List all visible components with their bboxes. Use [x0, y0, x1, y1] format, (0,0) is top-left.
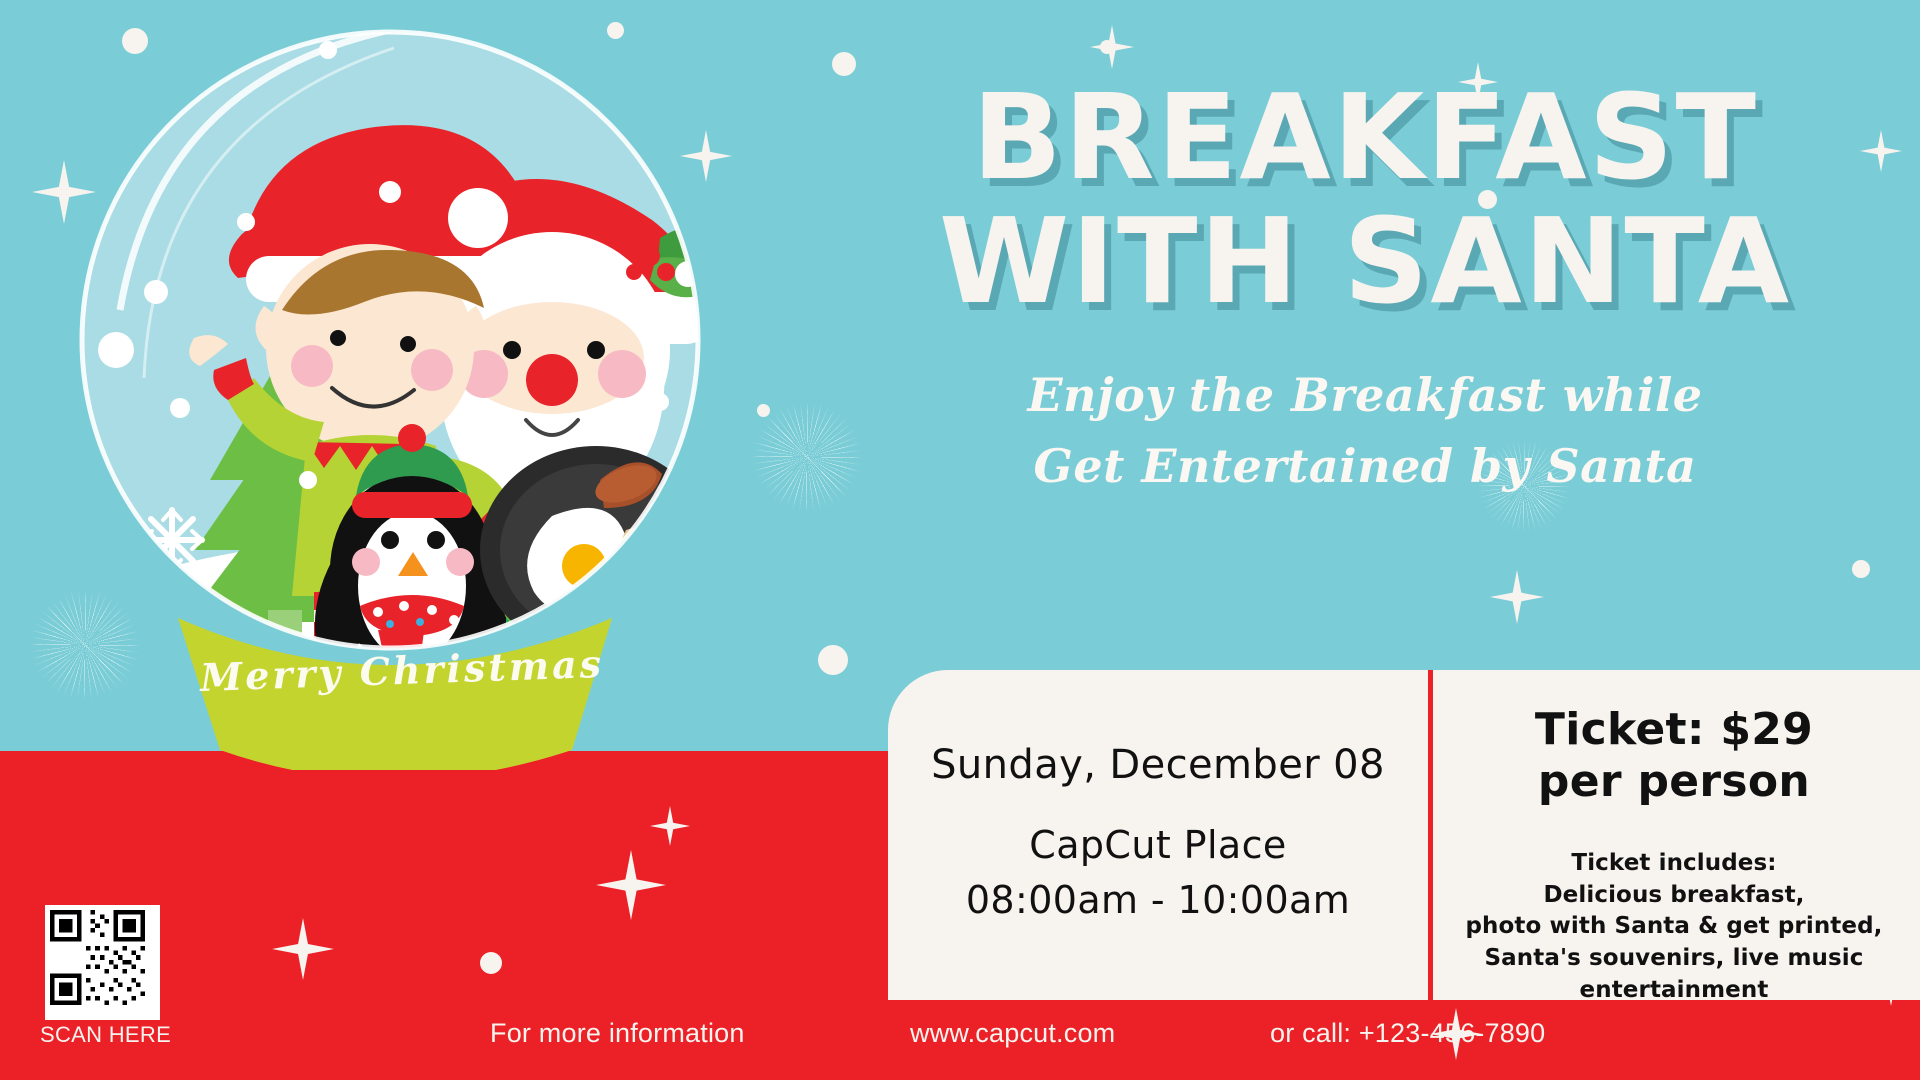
- event-venue: CapCut Place: [966, 818, 1350, 873]
- event-details-card: Sunday, December 08 CapCut Place 08:00am…: [888, 670, 1428, 1000]
- poster-canvas: Merry Christmas BREAKFAST WITH SANTA Enj…: [0, 0, 1920, 1080]
- decorative-dot: [1852, 560, 1870, 578]
- event-date: Sunday, December 08: [931, 742, 1385, 788]
- decorative-dot: [757, 404, 770, 417]
- ticket-includes-list: Ticket includes: Delicious breakfast, ph…: [1465, 848, 1882, 1007]
- includes-line-3: Santa's souvenirs, live music: [1465, 943, 1882, 975]
- page-title: BREAKFAST WITH SANTA: [840, 78, 1890, 320]
- includes-line-1: Delicious breakfast,: [1465, 880, 1882, 912]
- ticket-price-line-1: Ticket: $29: [1535, 704, 1813, 756]
- ticket-card: Ticket: $29 per person Ticket includes: …: [1428, 670, 1920, 1000]
- decorative-dot: [480, 952, 502, 974]
- includes-title: Ticket includes:: [1465, 848, 1882, 880]
- subtitle-line-1: Enjoy the Breakfast while: [840, 360, 1890, 431]
- more-information-label: For more information: [490, 1018, 745, 1049]
- decorative-dot: [832, 52, 856, 76]
- ticket-divider-vertical: [1428, 670, 1433, 1000]
- phone-number[interactable]: or call: +123-456-7890: [1270, 1018, 1545, 1049]
- qr-code[interactable]: [45, 905, 160, 1020]
- scan-here-label: SCAN HERE: [40, 1022, 171, 1048]
- snow-globe-illustration: Merry Christmas: [60, 10, 740, 770]
- event-venue-time: CapCut Place 08:00am - 10:00am: [966, 818, 1350, 928]
- decorative-dot: [818, 645, 848, 675]
- includes-line-4: entertainment: [1465, 975, 1882, 1007]
- subtitle-line-2: Get Entertained by Santa: [840, 431, 1890, 502]
- sparkle-icon: [1090, 25, 1134, 69]
- subtitle: Enjoy the Breakfast while Get Entertaine…: [840, 360, 1890, 503]
- website-link[interactable]: www.capcut.com: [910, 1018, 1115, 1049]
- ticket-price-line-2: per person: [1535, 756, 1813, 808]
- headline-line-1: BREAKFAST: [840, 78, 1890, 196]
- event-time: 08:00am - 10:00am: [966, 873, 1350, 928]
- includes-line-2: photo with Santa & get printed,: [1465, 911, 1882, 943]
- qr-code-svg: [50, 910, 145, 1005]
- sparkle-icon: [1490, 570, 1544, 624]
- ticket-price: Ticket: $29 per person: [1535, 704, 1813, 808]
- headline-line-2: WITH SANTA: [840, 202, 1890, 320]
